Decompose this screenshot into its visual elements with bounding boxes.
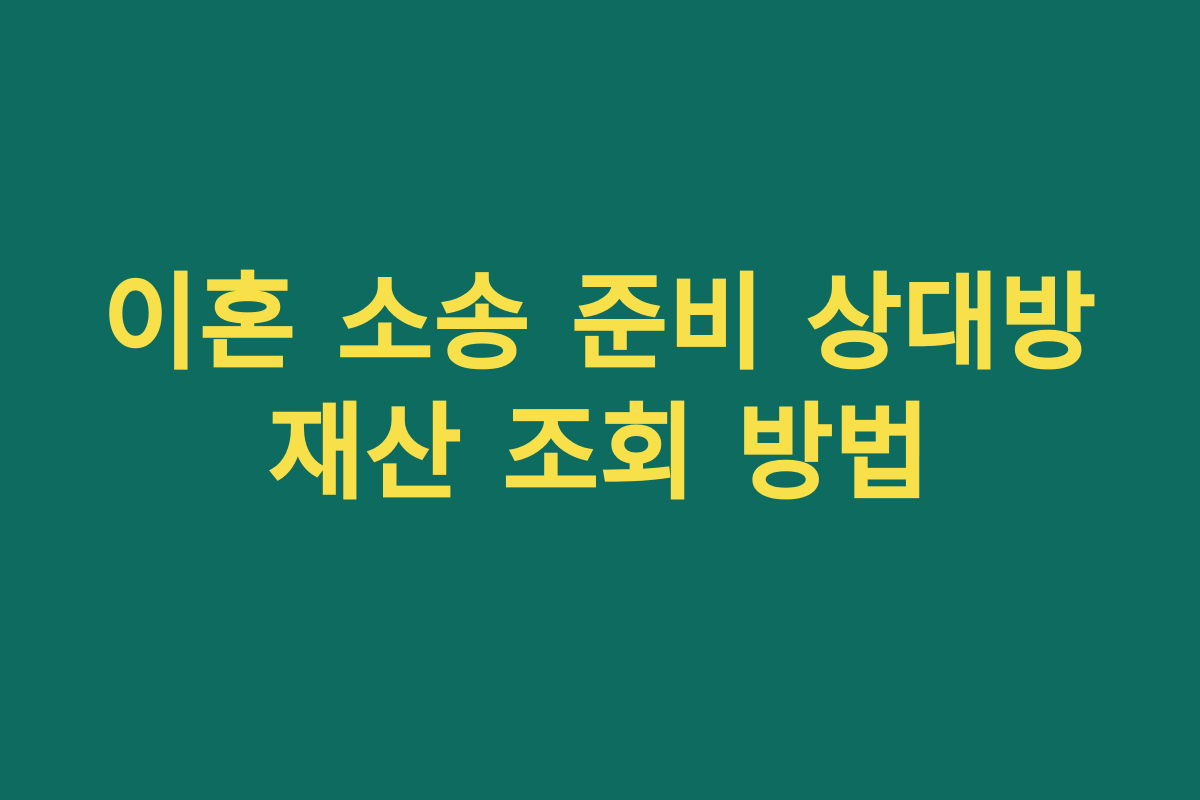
- thumbnail-banner: 이혼 소송 준비 상대방 재산 조회 방법: [0, 0, 1200, 800]
- banner-title-block: 이혼 소송 준비 상대방 재산 조회 방법: [0, 259, 1200, 519]
- banner-title-line-1: 이혼 소송 준비 상대방: [40, 259, 1160, 389]
- banner-title-line-2: 재산 조회 방법: [40, 389, 1160, 519]
